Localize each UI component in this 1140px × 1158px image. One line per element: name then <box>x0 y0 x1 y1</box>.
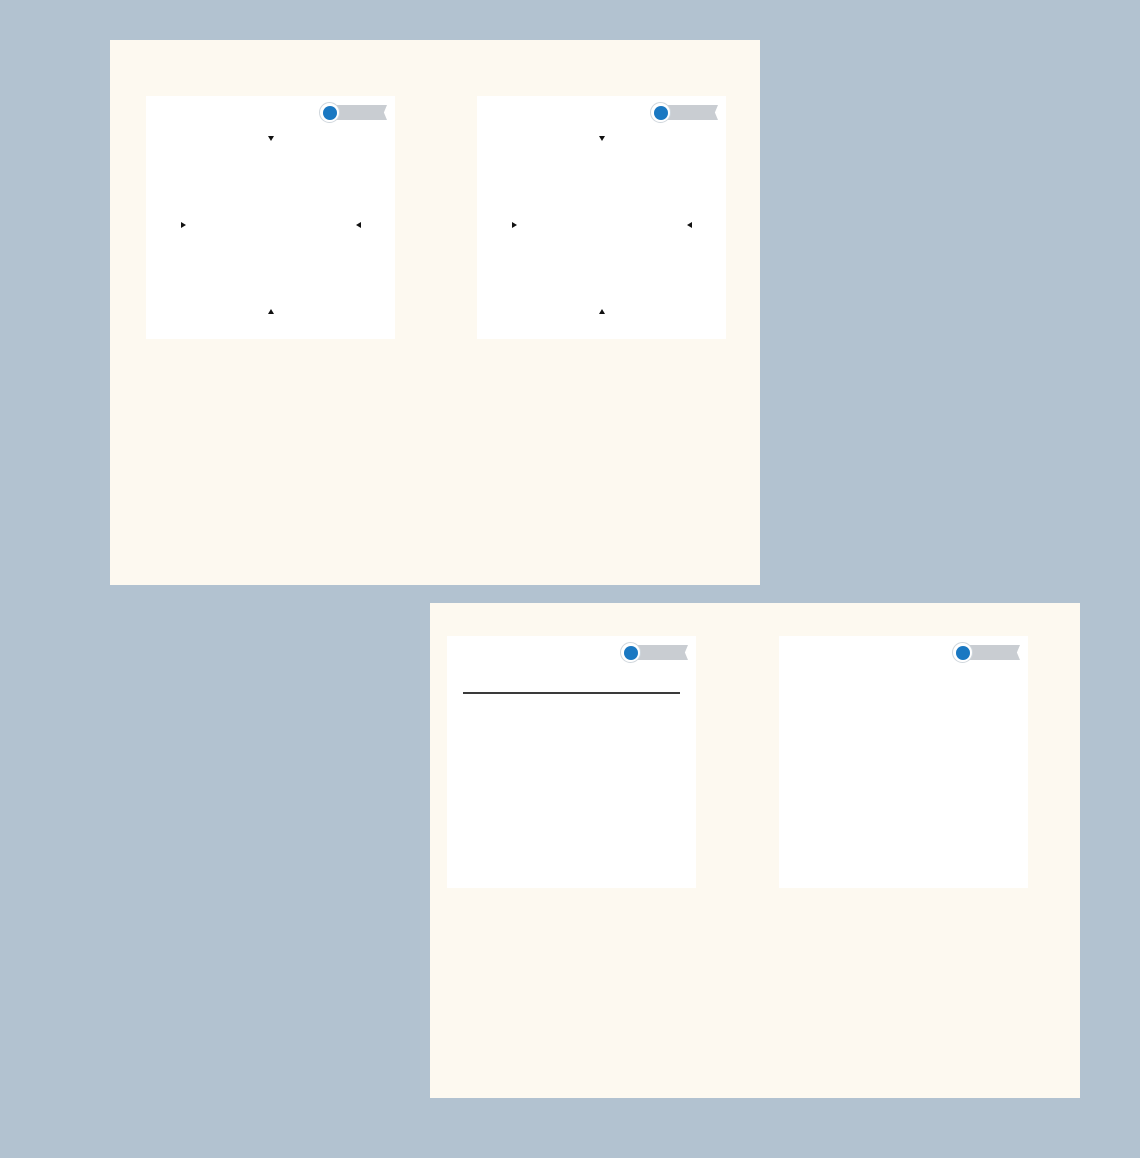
doc-header <box>477 96 726 126</box>
badge-circle-icon <box>952 642 973 663</box>
color-chart-canvas <box>186 141 395 339</box>
badge-x-icon <box>654 106 668 120</box>
chart-center-marker-left-icon <box>512 222 517 228</box>
chart-center-marker-left-icon <box>181 222 186 228</box>
pattern-keeper-tested-badge <box>648 102 718 123</box>
pattern-keeper-tested-badge <box>950 642 1020 663</box>
badge-circle-icon <box>319 102 340 123</box>
badge-ribbon <box>335 105 387 120</box>
chart-center-marker-top-icon <box>268 136 274 141</box>
chart-center-marker-top-icon <box>599 136 605 141</box>
document-card-color-chart[interactable] <box>146 96 395 339</box>
chart-center-marker-right-icon <box>687 222 692 228</box>
badge-x-icon <box>624 646 638 660</box>
badge-x-icon <box>323 106 337 120</box>
document-card-thread-lengths[interactable] <box>779 636 1028 888</box>
doc-header <box>146 96 395 126</box>
chart-center-marker-bottom-icon <box>599 309 605 314</box>
pattern-keeper-tested-badge <box>317 102 387 123</box>
badge-x-icon <box>956 646 970 660</box>
badge-circle-icon <box>650 102 671 123</box>
document-card-symbol-key[interactable] <box>447 636 696 888</box>
color-pattern-chart <box>186 141 356 309</box>
chart-center-marker-bottom-icon <box>268 309 274 314</box>
doc-header <box>447 636 696 666</box>
document-card-bw-chart[interactable] <box>477 96 726 339</box>
doc-header <box>779 636 1028 666</box>
pattern-keeper-tested-badge <box>618 642 688 663</box>
chart-center-marker-right-icon <box>356 222 361 228</box>
bw-chart-canvas <box>517 141 726 339</box>
badge-ribbon <box>666 105 718 120</box>
badge-ribbon <box>968 645 1020 660</box>
badge-ribbon <box>636 645 688 660</box>
bw-pattern-chart <box>517 141 687 309</box>
divider <box>463 692 680 694</box>
badge-circle-icon <box>620 642 641 663</box>
